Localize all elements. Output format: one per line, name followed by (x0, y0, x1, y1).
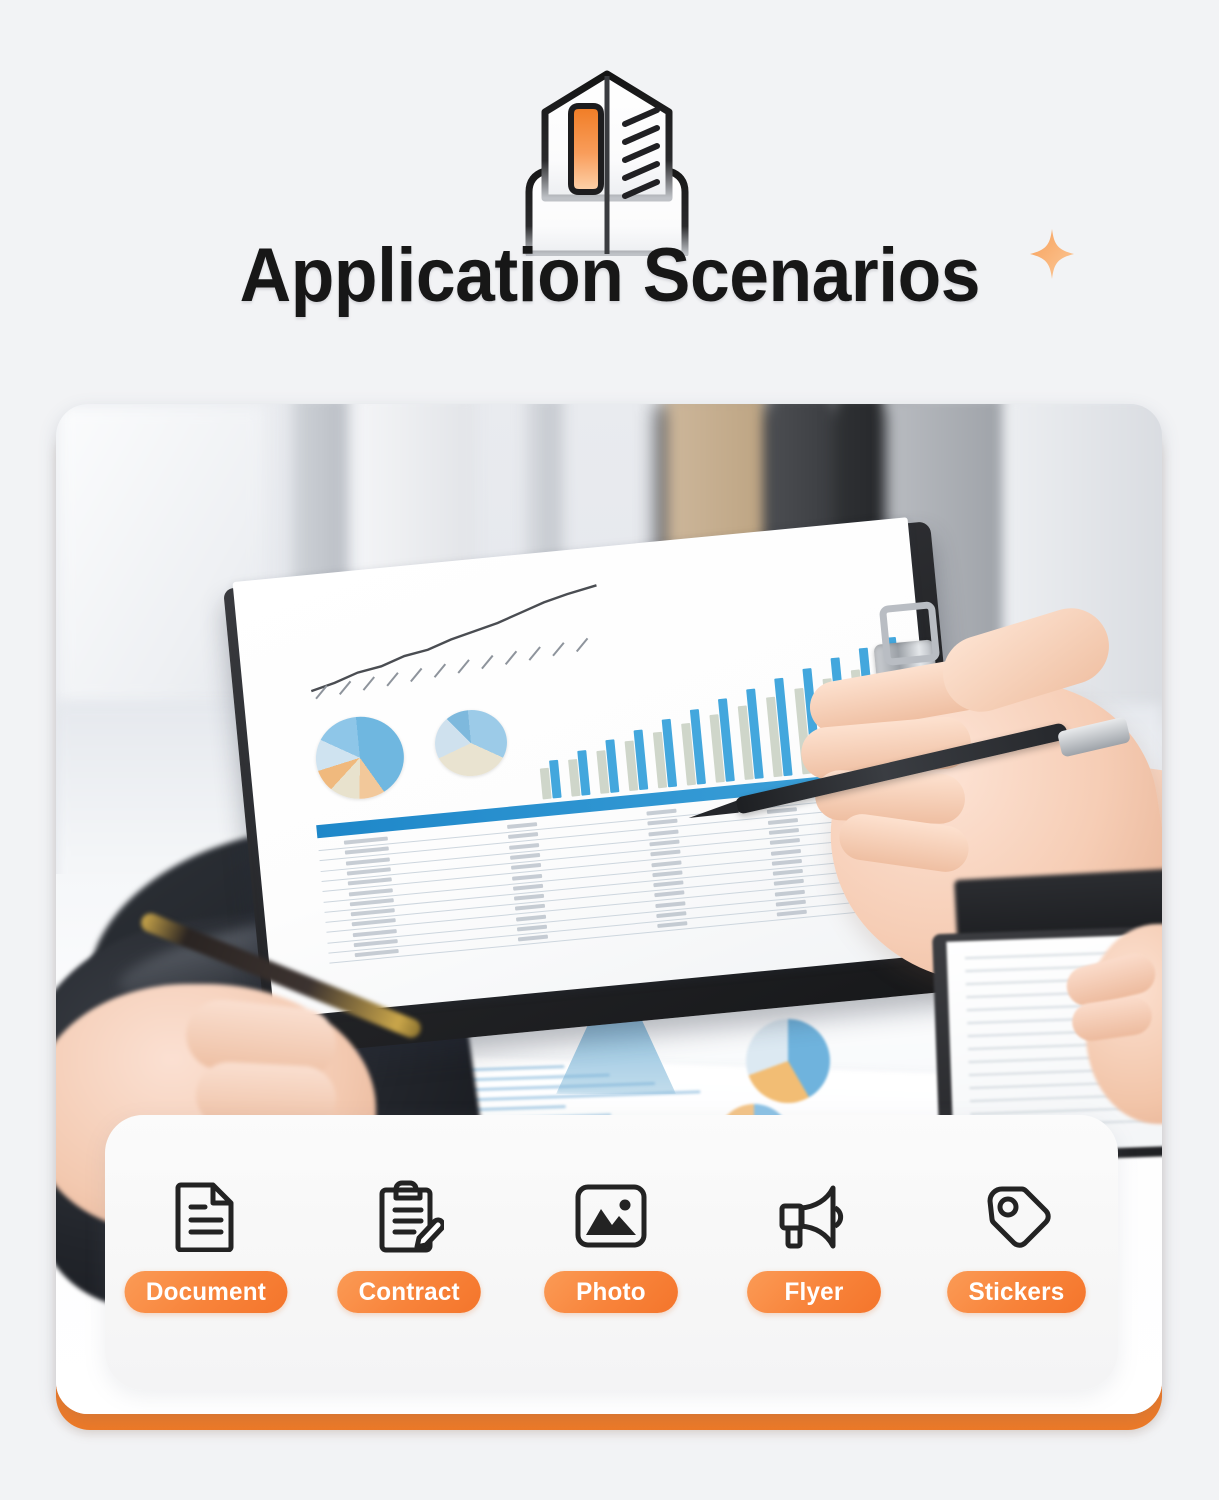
scenario-label-stickers[interactable]: Stickers (947, 1271, 1086, 1313)
report-pie-chart (432, 707, 510, 780)
scenario-item-photo[interactable]: Photo (521, 1173, 701, 1313)
scenario-item-stickers[interactable]: Stickers (927, 1173, 1107, 1313)
scenario-label-contract[interactable]: Contract (337, 1271, 481, 1313)
photo-image-icon (574, 1173, 648, 1259)
scenario-item-contract[interactable]: Contract (319, 1173, 499, 1313)
megaphone-icon (775, 1173, 853, 1259)
scenario-label-document[interactable]: Document (125, 1271, 288, 1313)
sparkle-icon (1029, 228, 1075, 280)
price-tag-icon (980, 1173, 1054, 1259)
scenario-tags-panel: Document Contract (105, 1115, 1118, 1390)
scenario-item-flyer[interactable]: Flyer (724, 1173, 904, 1313)
contract-clipboard-pen-icon (374, 1173, 444, 1259)
building-tower-icon (497, 66, 717, 256)
page-title: Application Scenarios (239, 238, 979, 314)
scenario-item-document[interactable]: Document (116, 1173, 296, 1313)
scenario-label-flyer[interactable]: Flyer (747, 1271, 881, 1313)
scenario-label-photo[interactable]: Photo (545, 1271, 679, 1313)
scenario-tag-list: Document Contract (105, 1115, 1118, 1390)
page-header: Application Scenarios (0, 0, 1219, 380)
report-pie-chart (312, 713, 407, 803)
document-icon (175, 1173, 237, 1259)
